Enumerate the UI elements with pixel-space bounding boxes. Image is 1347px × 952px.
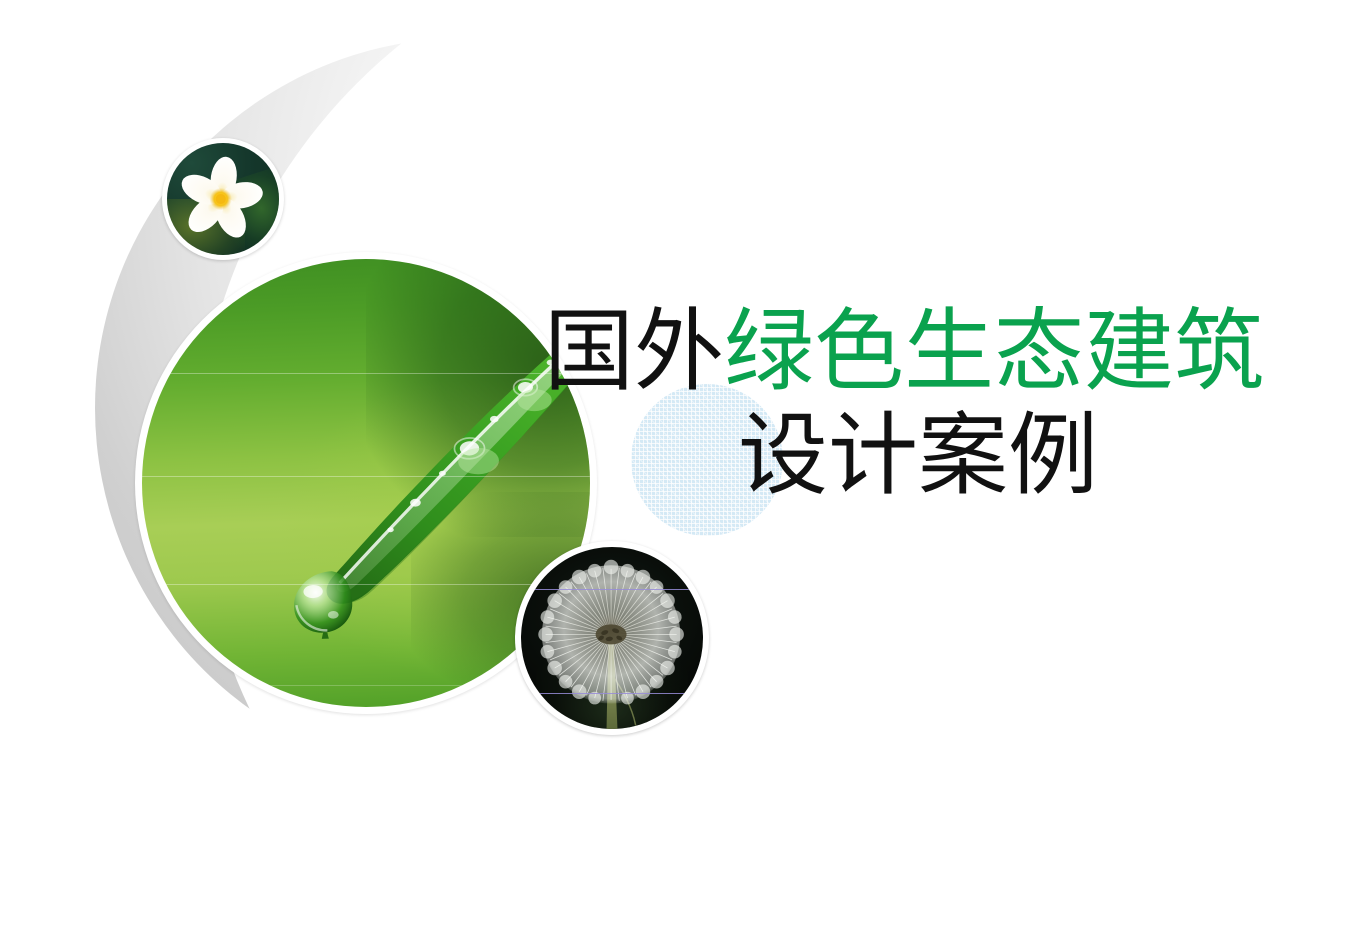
dandelion-photo [521,547,703,729]
title-line-2: 设计案例 [540,404,1260,508]
dandelion-photo-circle [515,541,709,735]
dandelion-seedhead-graphic [521,547,703,729]
dandelion-scanline [521,693,703,694]
flower-photo [167,143,279,255]
title-line-1: 国外绿色生态建筑 [540,300,1260,404]
title-accent: 绿色生态建筑 [724,302,1264,402]
title-slide: 国外绿色生态建筑 设计案例 [0,0,1347,952]
slide-title: 国外绿色生态建筑 设计案例 [540,300,1260,509]
photo-scanline [142,476,590,477]
dandelion-scanline [521,589,703,590]
flower-photo-circle [162,138,284,260]
title-prefix: 国外 [544,302,724,402]
plumeria-flower-graphic [167,143,279,255]
photo-scanline [142,373,590,374]
